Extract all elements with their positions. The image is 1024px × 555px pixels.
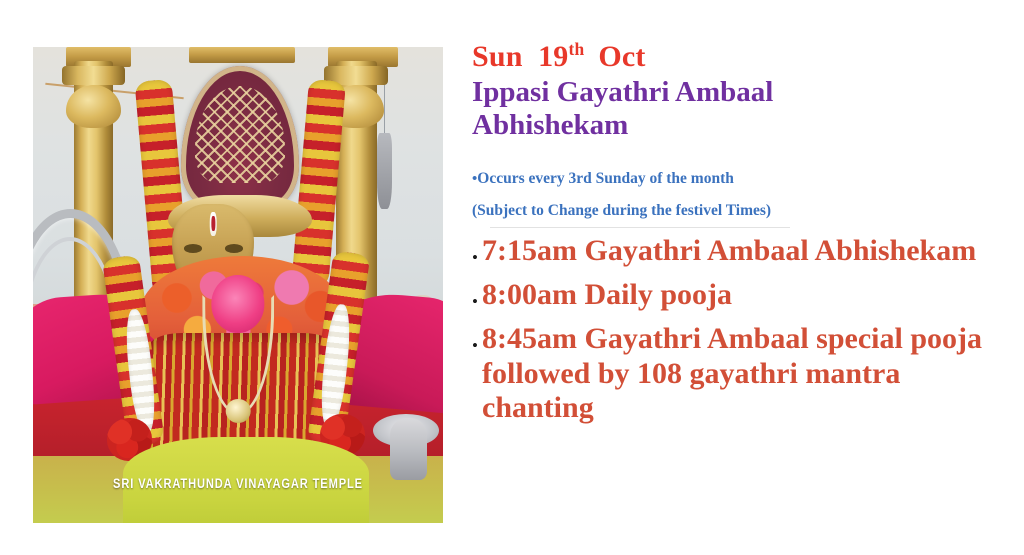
schedule-item-text: 8:45am Gayathri Ambaal special pooja fol… xyxy=(482,322,1002,426)
schedule-item: • 7:15am Gayathri Ambaal Abhishekam xyxy=(472,234,1002,269)
schedule-item-text: 8:00am Daily pooja xyxy=(482,278,732,313)
recurrence-note-1: •Occurs every 3rd Sunday of the month xyxy=(472,171,1002,187)
pillar-bulb-left xyxy=(66,85,121,128)
photo-watermark: SRI VAKRATHUNDA VINAYAGAR TEMPLE xyxy=(70,476,406,491)
deity-photo: SRI VAKRATHUNDA VINAYAGAR TEMPLE xyxy=(33,47,443,523)
event-month: Oct xyxy=(598,40,645,73)
event-title-line1: Ippasi Gayathri Ambaal xyxy=(472,76,1002,110)
recurrence-note-1-text: Occurs every 3rd Sunday of the month xyxy=(477,170,734,187)
ceiling-beam-center xyxy=(189,47,296,63)
deity-eye-right xyxy=(225,244,243,253)
schedule-bullet-icon: • xyxy=(472,234,482,266)
crown-gem-pattern xyxy=(195,86,285,183)
event-day-suffix: th xyxy=(568,39,584,59)
schedule-item: • 8:45am Gayathri Ambaal special pooja f… xyxy=(472,322,1002,426)
schedule-item-text: 7:15am Gayathri Ambaal Abhishekam xyxy=(482,234,976,269)
recurrence-notes: •Occurs every 3rd Sunday of the month (S… xyxy=(472,171,1002,229)
deity-eye-left xyxy=(184,244,202,253)
pillar-cap-left xyxy=(62,66,126,85)
necklace-pendant xyxy=(226,399,251,423)
schedule-item: • 8:00am Daily pooja xyxy=(472,278,1002,313)
event-weekday: Sun xyxy=(472,40,523,73)
photo-scene xyxy=(33,47,443,523)
hanging-lamp-icon xyxy=(377,133,391,209)
event-title-line2: Abhishekam xyxy=(472,109,1002,143)
recurrence-note-2-text: (Subject to Change during the festivel T… xyxy=(472,202,771,219)
section-divider xyxy=(490,227,790,228)
event-date: Sun 19thOct xyxy=(472,40,1002,73)
event-details: Sun 19thOct Ippasi Gayathri Ambaal Abhis… xyxy=(472,40,1002,426)
oil-lamp xyxy=(390,418,427,480)
schedule-bullet-icon: • xyxy=(472,322,482,354)
recurrence-note-2: (Subject to Change during the festivel T… xyxy=(472,203,1002,219)
schedule-bullet-icon: • xyxy=(472,278,482,310)
event-slide: SRI VAKRATHUNDA VINAYAGAR TEMPLE Sun 19t… xyxy=(0,0,1024,555)
event-day: 19 xyxy=(538,40,568,73)
event-title: Ippasi Gayathri Ambaal Abhishekam xyxy=(472,76,1002,143)
schedule-list: • 7:15am Gayathri Ambaal Abhishekam • 8:… xyxy=(472,234,1002,426)
